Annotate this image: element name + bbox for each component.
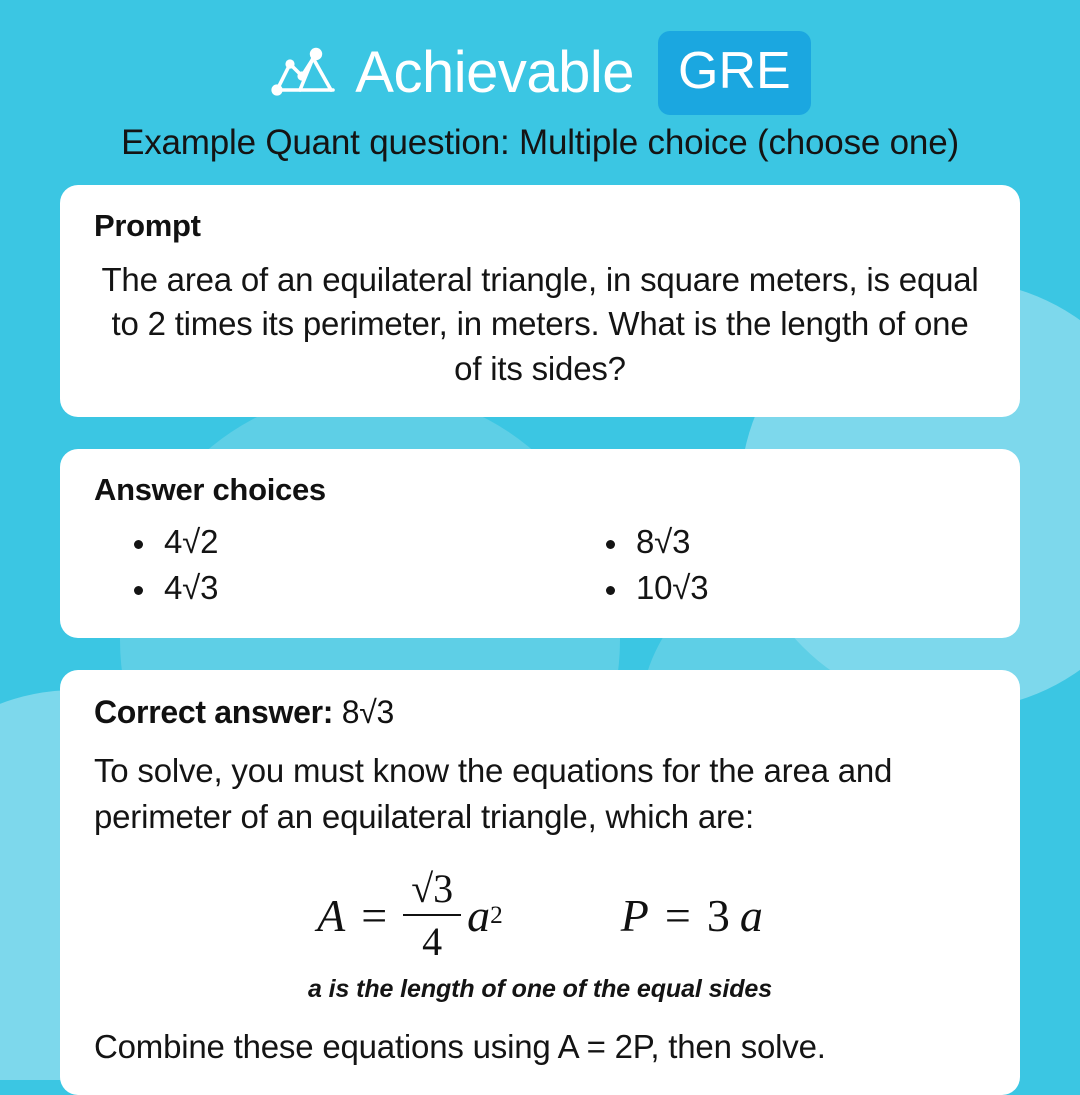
answer-choices-right-column: 8√3 10√3 — [540, 519, 986, 613]
area-formula-numerator: √3 — [403, 865, 461, 916]
perimeter-formula-equals: = — [665, 889, 691, 942]
exam-badge: GRE — [658, 31, 811, 115]
answer-final-line: Combine these equations using A = 2P, th… — [94, 1026, 986, 1069]
formula-row: A = √3 4 a2 P = 3 a — [94, 865, 986, 965]
list-item[interactable]: 10√3 — [602, 565, 986, 612]
answer-choices-left-column: 4√2 4√3 — [94, 519, 540, 613]
prompt-card: Prompt The area of an equilateral triang… — [60, 185, 1020, 418]
area-formula: A = √3 4 a2 — [317, 865, 503, 965]
cards-container: Prompt The area of an equilateral triang… — [0, 185, 1080, 1095]
answer-choices-title: Answer choices — [94, 471, 986, 508]
area-formula-denominator: 4 — [422, 916, 442, 965]
perimeter-formula-coefficient: 3 — [707, 889, 730, 942]
brand-name: Achievable — [355, 44, 634, 102]
page-header: Achievable GRE Example Quant question: M… — [0, 0, 1080, 163]
perimeter-formula-variable: a — [740, 889, 763, 942]
answer-choices-list: 4√2 4√3 8√3 10√3 — [94, 519, 986, 613]
correct-answer-label: Correct answer: — [94, 694, 333, 730]
correct-answer-heading: Correct answer: 8√3 — [94, 692, 986, 732]
perimeter-formula: P = 3 a — [621, 889, 763, 942]
correct-answer-value: 8√3 — [342, 694, 394, 730]
formula-note: a is the length of one of the equal side… — [94, 975, 986, 1004]
prompt-card-title: Prompt — [94, 207, 986, 244]
list-item[interactable]: 4√2 — [130, 519, 540, 566]
answer-explanation: To solve, you must know the equations fo… — [94, 748, 986, 839]
brand-row: Achievable GRE — [0, 34, 1080, 112]
area-formula-lhs: A — [317, 889, 345, 942]
prompt-text: The area of an equilateral triangle, in … — [94, 258, 986, 392]
page-subtitle: Example Quant question: Multiple choice … — [0, 124, 1080, 163]
mountain-chart-icon — [269, 44, 345, 102]
list-item[interactable]: 4√3 — [130, 565, 540, 612]
area-formula-exponent: 2 — [490, 901, 503, 930]
correct-answer-card: Correct answer: 8√3 To solve, you must k… — [60, 670, 1020, 1095]
perimeter-formula-lhs: P — [621, 889, 649, 942]
area-formula-equals: = — [361, 889, 387, 942]
area-formula-fraction: √3 4 — [403, 865, 461, 965]
answer-choices-card: Answer choices 4√2 4√3 8√3 10√3 — [60, 449, 1020, 638]
area-formula-variable: a — [467, 889, 490, 942]
list-item[interactable]: 8√3 — [602, 519, 986, 566]
